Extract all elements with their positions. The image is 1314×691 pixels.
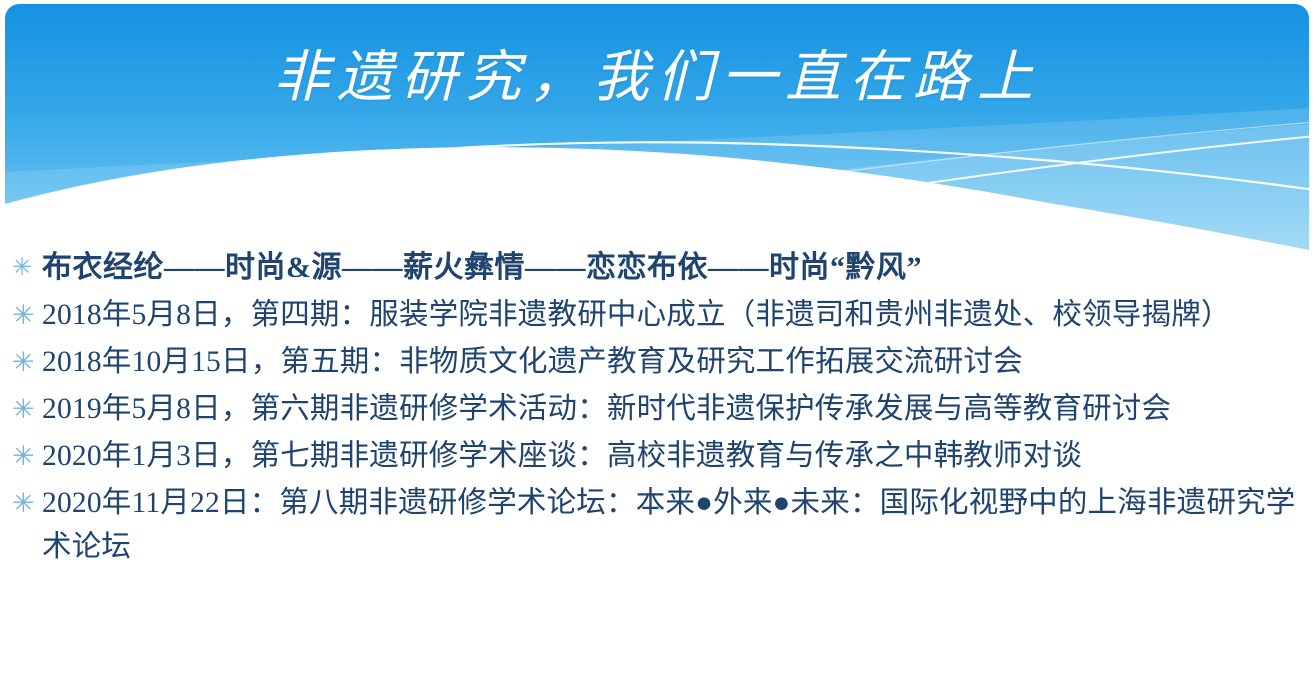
list-item[interactable]: ✳ 2020年1月3日，第七期非遗研修学术座谈：高校非遗教育与传承之中韩教师对谈: [0, 434, 1314, 478]
asterisk-bullet-icon: ✳: [12, 246, 42, 290]
list-item-label: 2018年5月8日，第四期：服装学院非遗教研中心成立（非遗司和贵州非遗处、校领导…: [42, 293, 1296, 337]
asterisk-bullet-icon: ✳: [12, 387, 42, 431]
asterisk-bullet-icon: ✳: [12, 340, 42, 384]
asterisk-bullet-icon: ✳: [12, 434, 42, 478]
bullet-list: ✳ 布衣经纶——时尚&源——薪火彝情——恋恋布依——时尚“黔风” ✳ 2018年…: [0, 246, 1314, 572]
asterisk-bullet-icon: ✳: [12, 293, 42, 337]
asterisk-bullet-icon: ✳: [12, 481, 42, 525]
list-item[interactable]: ✳ 2020年11月22日：第八期非遗研修学术论坛：本来●外来●未来：国际化视野…: [0, 481, 1314, 569]
list-item[interactable]: ✳ 2018年5月8日，第四期：服装学院非遗教研中心成立（非遗司和贵州非遗处、校…: [0, 293, 1314, 337]
header-banner: [5, 4, 1309, 256]
presentation-slide: 非遗研究，我们一直在路上 ✳ 布衣经纶——时尚&源——薪火彝情——恋恋布依——时…: [0, 0, 1314, 691]
list-item[interactable]: ✳ 布衣经纶——时尚&源——薪火彝情——恋恋布依——时尚“黔风”: [0, 246, 1314, 290]
list-item-label: 布衣经纶——时尚&源——薪火彝情——恋恋布依——时尚“黔风”: [42, 246, 1296, 290]
banner-wave-graphic: [5, 4, 1309, 256]
list-item[interactable]: ✳ 2019年5月8日，第六期非遗研修学术活动：新时代非遗保护传承发展与高等教育…: [0, 387, 1314, 431]
list-item-label: 2018年10月15日，第五期：非物质文化遗产教育及研究工作拓展交流研讨会: [42, 340, 1296, 384]
list-item-label: 2020年11月22日：第八期非遗研修学术论坛：本来●外来●未来：国际化视野中的…: [42, 481, 1296, 569]
list-item-label: 2020年1月3日，第七期非遗研修学术座谈：高校非遗教育与传承之中韩教师对谈: [42, 434, 1296, 478]
list-item-label: 2019年5月8日，第六期非遗研修学术活动：新时代非遗保护传承发展与高等教育研讨…: [42, 387, 1296, 431]
list-item[interactable]: ✳ 2018年10月15日，第五期：非物质文化遗产教育及研究工作拓展交流研讨会: [0, 340, 1314, 384]
